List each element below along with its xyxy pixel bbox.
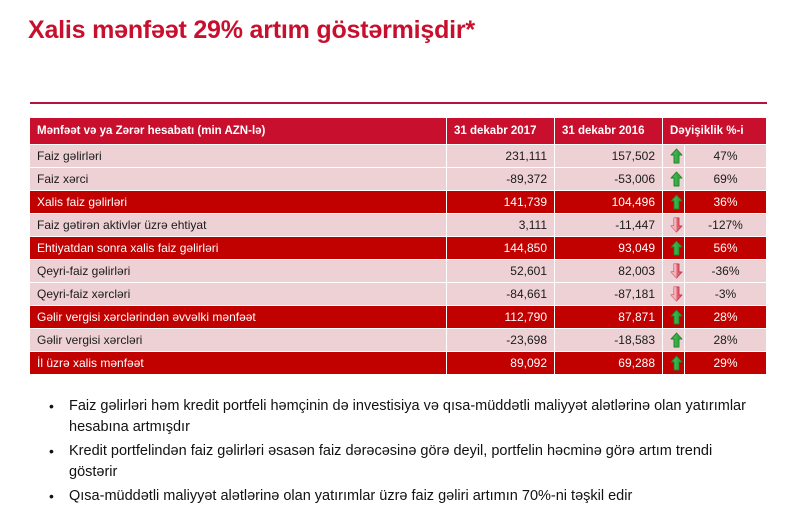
column-header-statement: Mənfəət və ya Zərər hesabatı (min AZN-lə… [30,118,447,144]
row-label: Qeyri-faiz gəlirləri [30,260,447,282]
cell-2017: 52,601 [447,260,555,282]
cell-change-percent: 36% [685,191,767,213]
cell-2016: -11,447 [555,214,663,236]
table-row: Gəlir vergisi xərclərindən əvvəlki mənfə… [30,306,767,328]
down-arrow-icon [670,217,683,233]
cell-2017: 3,111 [447,214,555,236]
up-arrow-icon [670,148,683,164]
row-label: İl üzrə xalis mənfəət [30,352,447,374]
column-header-2017: 31 dekabr 2017 [447,118,555,144]
financial-table: Mənfəət və ya Zərər hesabatı (min AZN-lə… [30,117,767,375]
table-row: İl üzrə xalis mənfəət89,09269,28829% [30,352,767,374]
bullet-text: Kredit portfelindən faiz gəlirləri əsasə… [69,443,712,480]
row-label: Qeyri-faiz xərcləri [30,283,447,305]
bullet-marker-icon: • [49,486,54,507]
row-label: Faiz gəlirləri [30,145,447,167]
cell-change-percent: -127% [685,214,767,236]
cell-change-percent: 28% [685,329,767,351]
trend-indicator [663,214,685,236]
cell-2016: 93,049 [555,237,663,259]
row-label: Xalis faiz gəlirləri [30,191,447,213]
cell-2016: 157,502 [555,145,663,167]
table-row: Xalis faiz gəlirləri141,739104,49636% [30,191,767,213]
table-row: Qeyri-faiz xərcləri-84,661-87,181-3% [30,283,767,305]
down-arrow-icon [670,286,683,302]
row-label: Faiz xərci [30,168,447,190]
cell-2016: 87,871 [555,306,663,328]
table-row: Faiz xərci-89,372-53,00669% [30,168,767,190]
row-label: Ehtiyatdan sonra xalis faiz gəlirləri [30,237,447,259]
table-row: Qeyri-faiz gəlirləri52,60182,003-36% [30,260,767,282]
table-row: Faiz gəlirləri231,111157,50247% [30,145,767,167]
table-row: Gəlir vergisi xərcləri-23,698-18,58328% [30,329,767,351]
row-label: Faiz gətirən aktivlər üzrə ehtiyat [30,214,447,236]
trend-indicator [663,306,685,328]
cell-2017: 112,790 [447,306,555,328]
cell-2017: 144,850 [447,237,555,259]
cell-2017: -84,661 [447,283,555,305]
column-header-2016: 31 dekabr 2016 [555,118,663,144]
bullet-item: •Qısa-müddətli maliyyət alətlərinə olan … [44,486,764,507]
cell-change-percent: -36% [685,260,767,282]
bullet-text: Faiz gəlirləri həm kredit portfeli həmçi… [69,398,746,435]
page-title: Xalis mənfəət 29% artım göstərmişdir* [28,16,475,45]
cell-change-percent: 56% [685,237,767,259]
bullet-text: Qısa-müddətli maliyyət alətlərinə olan y… [69,488,632,504]
table-body: Faiz gəlirləri231,111157,50247%Faiz xərc… [30,145,767,374]
up-arrow-icon [670,171,683,187]
trend-indicator [663,329,685,351]
trend-indicator [663,352,685,374]
financial-table-container: Mənfəət və ya Zərər hesabatı (min AZN-lə… [30,117,767,375]
cell-change-percent: 47% [685,145,767,167]
cell-change-percent: -3% [685,283,767,305]
cell-2016: -53,006 [555,168,663,190]
column-header-change: Dəyişiklik %-i [663,118,767,144]
cell-change-percent: 29% [685,352,767,374]
bullet-marker-icon: • [49,441,54,462]
bullet-list: •Faiz gəlirləri həm kredit portfeli həmç… [44,396,764,510]
row-label: Gəlir vergisi xərcləri [30,329,447,351]
trend-indicator [663,191,685,213]
up-arrow-icon [670,240,683,256]
cell-2017: 141,739 [447,191,555,213]
trend-indicator [663,145,685,167]
cell-2016: 69,288 [555,352,663,374]
up-arrow-icon [670,332,683,348]
down-arrow-icon [670,263,683,279]
cell-change-percent: 69% [685,168,767,190]
cell-change-percent: 28% [685,306,767,328]
cell-2016: 104,496 [555,191,663,213]
cell-2017: 231,111 [447,145,555,167]
cell-2016: -18,583 [555,329,663,351]
bullet-item: •Faiz gəlirləri həm kredit portfeli həmç… [44,396,764,438]
trend-indicator [663,237,685,259]
cell-2016: 82,003 [555,260,663,282]
bullet-marker-icon: • [49,396,54,417]
row-label: Gəlir vergisi xərclərindən əvvəlki mənfə… [30,306,447,328]
up-arrow-icon [670,355,683,371]
up-arrow-icon [670,194,683,210]
up-arrow-icon [670,309,683,325]
trend-indicator [663,260,685,282]
cell-2017: 89,092 [447,352,555,374]
slide: Xalis mənfəət 29% artım göstərmişdir* Mə… [0,0,800,528]
cell-2016: -87,181 [555,283,663,305]
bullet-item: •Kredit portfelindən faiz gəlirləri əsas… [44,441,764,483]
cell-2017: -89,372 [447,168,555,190]
table-header-row: Mənfəət və ya Zərər hesabatı (min AZN-lə… [30,118,767,144]
title-divider [30,102,767,104]
trend-indicator [663,168,685,190]
table-row: Ehtiyatdan sonra xalis faiz gəlirləri144… [30,237,767,259]
trend-indicator [663,283,685,305]
cell-2017: -23,698 [447,329,555,351]
table-row: Faiz gətirən aktivlər üzrə ehtiyat3,111-… [30,214,767,236]
